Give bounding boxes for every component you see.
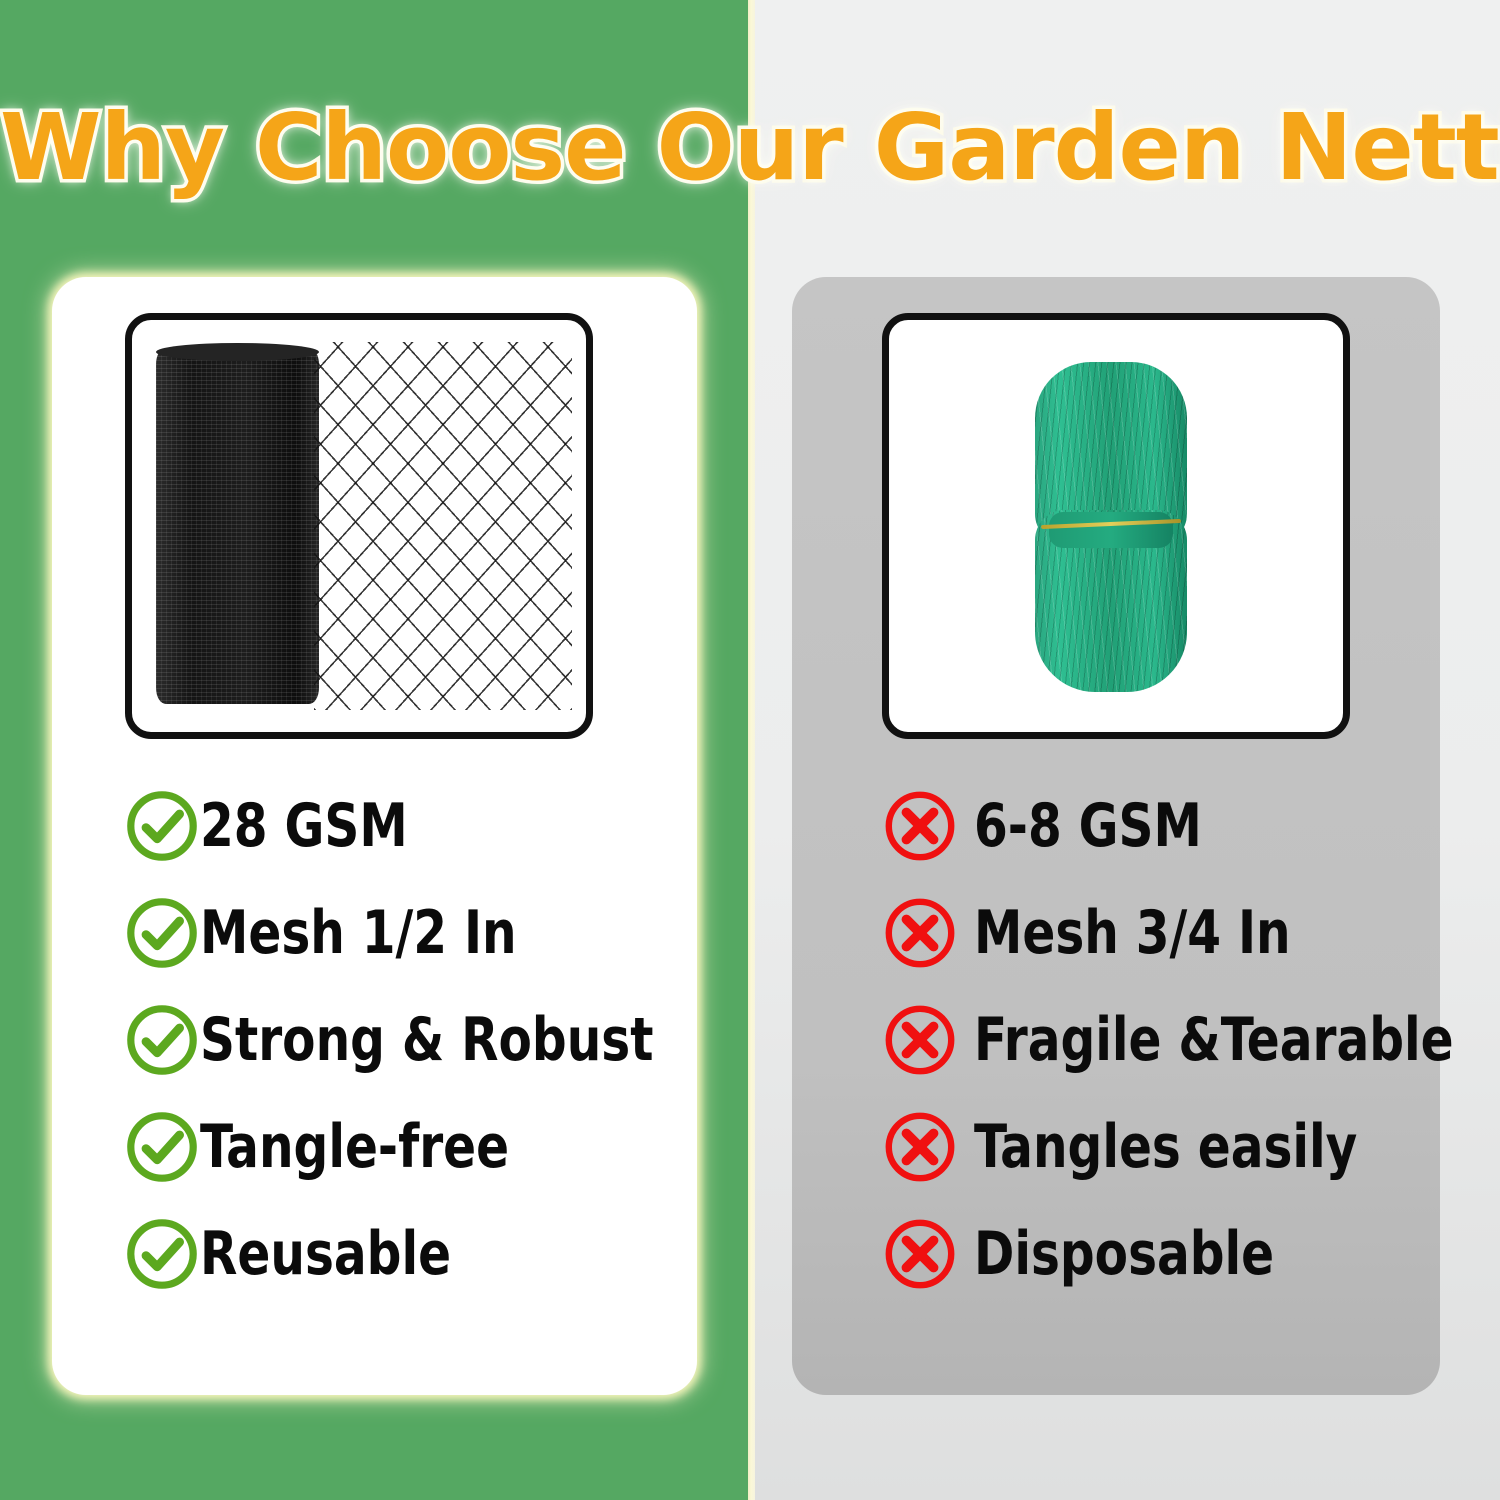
check-circle-icon: [122, 1214, 202, 1294]
left-product-image-frame: [125, 313, 593, 739]
cross-circle-icon: [880, 786, 960, 866]
list-item: Tangle-free: [122, 1093, 682, 1200]
cross-circle-icon: [880, 1107, 960, 1187]
list-item-label: Reusable: [200, 1224, 451, 1284]
panel-divider: [748, 0, 755, 1500]
list-item-label: 28 GSM: [200, 796, 408, 856]
right-product-image-frame: [882, 313, 1350, 739]
list-item: Reusable: [122, 1200, 682, 1307]
list-item-label: Tangle-free: [200, 1117, 509, 1177]
check-circle-icon: [122, 786, 202, 866]
cross-circle-icon: [880, 1214, 960, 1294]
diamond-mesh-icon: [314, 342, 572, 710]
list-item-label: 6-8 GSM: [974, 796, 1202, 856]
comparison-poster: Why Choose Our Garden Netting? 28 GSM Me…: [0, 0, 1500, 1500]
cross-circle-icon: [880, 893, 960, 973]
list-item-label: Mesh 1/2 In: [200, 903, 517, 963]
right-product-card: 6-8 GSM Mesh 3/4 In Fragile &Tearable: [792, 277, 1440, 1395]
left-product-card: 28 GSM Mesh 1/2 In Strong & Robust: [52, 277, 697, 1395]
list-item: Tangles easily: [880, 1093, 1440, 1200]
list-item: Strong & Robust: [122, 986, 682, 1093]
check-circle-icon: [122, 893, 202, 973]
right-feature-list: 6-8 GSM Mesh 3/4 In Fragile &Tearable: [880, 772, 1440, 1307]
list-item: Fragile &Tearable: [880, 986, 1440, 1093]
list-item-label: Tangles easily: [974, 1117, 1357, 1177]
list-item-label: Disposable: [974, 1224, 1274, 1284]
list-item: Mesh 1/2 In: [122, 879, 682, 986]
list-item-label: Mesh 3/4 In: [974, 903, 1291, 963]
black-netting-roll-icon: [156, 348, 319, 704]
list-item-label: Fragile &Tearable: [974, 1010, 1454, 1070]
list-item: 6-8 GSM: [880, 772, 1440, 879]
green-netting-bundle-icon: [1035, 362, 1187, 692]
check-circle-icon: [122, 1107, 202, 1187]
list-item: 28 GSM: [122, 772, 682, 879]
list-item-label: Strong & Robust: [200, 1010, 653, 1070]
list-item: Disposable: [880, 1200, 1440, 1307]
left-feature-list: 28 GSM Mesh 1/2 In Strong & Robust: [122, 772, 682, 1307]
bundle-waist: [1049, 512, 1173, 548]
page-title: Why Choose Our Garden Netting?: [0, 96, 1500, 200]
cross-circle-icon: [880, 1000, 960, 1080]
list-item: Mesh 3/4 In: [880, 879, 1440, 986]
check-circle-icon: [122, 1000, 202, 1080]
